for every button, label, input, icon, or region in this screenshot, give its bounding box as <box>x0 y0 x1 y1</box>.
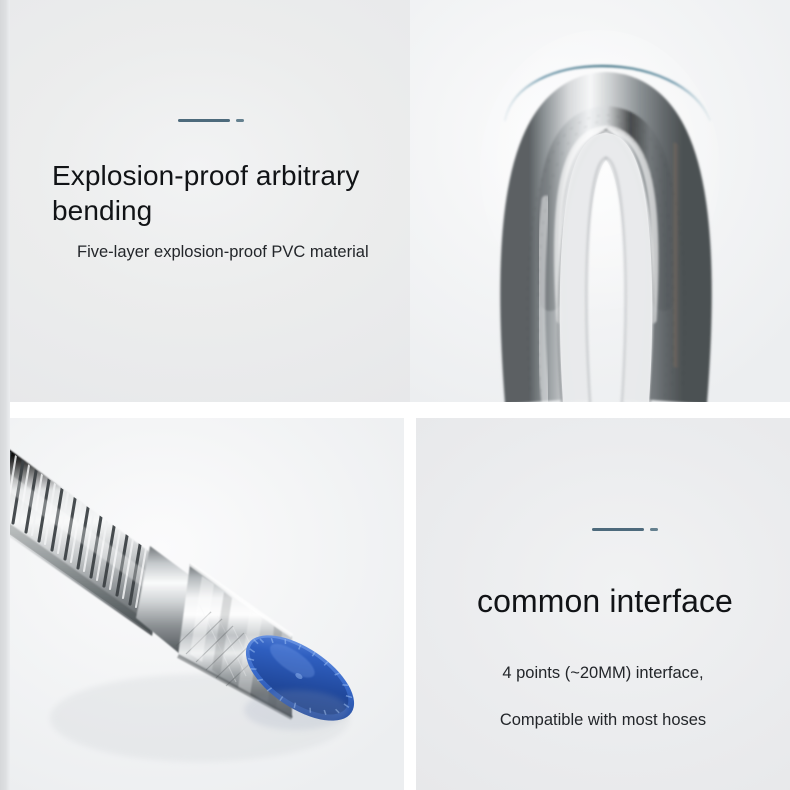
corrugated-hose-illustration <box>0 418 404 790</box>
subtitle-five-layer-pvc: Five-layer explosion-proof PVC material <box>77 240 407 266</box>
accent-rule-top-left <box>178 119 244 122</box>
bent-hose-illustration <box>410 0 790 402</box>
panel-hose-fitting-photo <box>0 418 404 790</box>
accent-dash-icon <box>236 119 244 122</box>
accent-dash-icon <box>650 528 658 531</box>
subtitle-interface-size: 4 points (~20MM) interface, <box>416 661 790 687</box>
accent-rule-bottom-right <box>592 528 658 531</box>
accent-bar-icon <box>592 528 644 531</box>
subtitle-compatibility: Compatible with most hoses <box>416 708 790 734</box>
panel-bent-hose-photo <box>410 0 790 402</box>
page-title-common-interface: common interface <box>425 581 785 621</box>
page-title-explosion-proof: Explosion-proof arbitrary bending <box>52 158 392 229</box>
panel-explosion-proof-bending: Explosion-proof arbitrary bending Five-l… <box>0 0 410 402</box>
panel-common-interface: common interface 4 points (~20MM) interf… <box>416 418 790 790</box>
product-feature-poster: Explosion-proof arbitrary bending Five-l… <box>0 0 790 790</box>
accent-bar-icon <box>178 119 230 122</box>
